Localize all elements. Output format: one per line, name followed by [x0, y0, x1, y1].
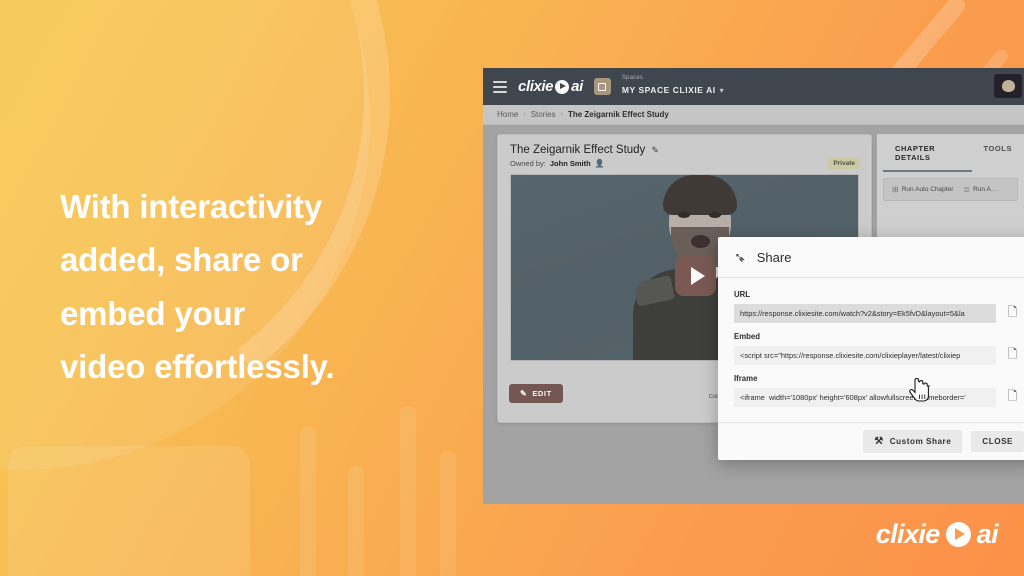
brand-logo: clixie ai	[876, 519, 998, 550]
person-eye-left	[678, 212, 690, 218]
owner-name: John Smith	[550, 159, 591, 168]
share-dialog: ➶ Share URL 🗋 Embed 🗋 Iframe	[718, 237, 1024, 460]
person-icon[interactable]: 👤	[595, 159, 605, 168]
edit-button-label: EDIT	[532, 389, 551, 398]
embed-field-label: Embed	[734, 332, 1022, 341]
space-selector[interactable]: Spaces MY SPACE CLIXIE AI▾	[622, 75, 724, 98]
edit-button[interactable]: ✎ EDIT	[509, 384, 563, 403]
story-owner: Owned by: John Smith 👤	[510, 159, 859, 168]
share-dialog-header: ➶ Share	[718, 237, 1024, 278]
breadcrumb-separator: ›	[561, 111, 563, 118]
copy-embed-icon[interactable]: 🗋	[1003, 345, 1022, 365]
breadcrumb: Home › Stories › The Zeigarnik Effect St…	[483, 105, 1024, 125]
panel-tabs: CHAPTER DETAILS TOOLS	[877, 134, 1024, 172]
url-input[interactable]	[734, 304, 996, 323]
iframe-input[interactable]	[734, 388, 996, 407]
run-auto-chapter-button[interactable]: ⊞ Run Auto Chapter	[892, 185, 953, 194]
run-auto-chapter-label: Run Auto Chapter	[902, 186, 954, 193]
space-eyebrow: Spaces	[622, 75, 724, 81]
custom-share-button[interactable]: ⚒ Custom Share	[863, 430, 962, 453]
promo-headline: With interactivity added, share or embed…	[60, 180, 460, 394]
share-arrow-icon: ➶	[734, 249, 746, 266]
breadcrumb-separator: ›	[523, 111, 525, 118]
url-field-row: 🗋	[734, 303, 1022, 323]
url-field-label: URL	[734, 290, 1022, 299]
promo-slide: With interactivity added, share or embed…	[0, 0, 1024, 576]
story-title-text: The Zeigarnik Effect Study	[510, 144, 645, 156]
app-logo-right: ai	[571, 78, 583, 95]
owner-label: Owned by:	[510, 159, 546, 168]
auto-chapter-icon: ⊞	[892, 185, 899, 194]
decorative-bar	[400, 406, 416, 576]
custom-share-label: Custom Share	[890, 437, 952, 446]
chevron-down-icon[interactable]: ▾	[720, 87, 724, 95]
iframe-field-row: 🗋	[734, 387, 1022, 407]
play-circle-icon	[555, 80, 569, 94]
embed-input[interactable]	[734, 346, 996, 365]
tab-chapter-details[interactable]: CHAPTER DETAILS	[883, 134, 972, 172]
space-name: MY SPACE CLIXIE AI	[622, 86, 716, 95]
breadcrumb-item-current: The Zeigarnik Effect Study	[568, 110, 669, 119]
embed-field-row: 🗋	[734, 345, 1022, 365]
iframe-field-label: Iframe	[734, 374, 1022, 383]
person-mouth	[691, 235, 710, 248]
copy-url-icon[interactable]: 🗋	[1003, 303, 1022, 323]
app-window: clixie ai Spaces MY SPACE CLIXIE AI▾ Hom…	[483, 68, 1024, 504]
decorative-rounded-rect	[8, 446, 250, 576]
person-hair	[663, 175, 737, 215]
hamburger-menu-icon[interactable]	[493, 81, 507, 93]
breadcrumb-item-stories[interactable]: Stories	[531, 110, 556, 119]
run-auto-secondary-button[interactable]: ≣ Run A…	[963, 185, 997, 194]
copy-iframe-icon[interactable]: 🗋	[1003, 387, 1022, 407]
decorative-bar	[348, 466, 364, 576]
app-logo[interactable]: clixie ai	[518, 78, 583, 95]
app-navbar: clixie ai Spaces MY SPACE CLIXIE AI▾	[483, 68, 1024, 105]
page-title: The Zeigarnik Effect Study ✎	[510, 144, 859, 156]
tools-hammer-icon: ⚒	[874, 436, 883, 447]
status-badge: Private	[828, 158, 860, 169]
share-dialog-body: URL 🗋 Embed 🗋 Iframe 🗋	[718, 278, 1024, 422]
decorative-bar	[440, 451, 456, 576]
close-button[interactable]: CLOSE	[971, 431, 1024, 452]
run-auto-secondary-label: Run A…	[973, 186, 997, 193]
app-content: The Zeigarnik Effect Study ✎ Owned by: J…	[483, 125, 1024, 504]
story-header: The Zeigarnik Effect Study ✎ Owned by: J…	[498, 135, 871, 174]
list-icon: ≣	[963, 185, 970, 194]
panel-toolbar: ⊞ Run Auto Chapter ≣ Run A…	[883, 178, 1018, 201]
breadcrumb-item-home[interactable]: Home	[497, 110, 518, 119]
app-logo-left: clixie	[518, 78, 553, 95]
play-icon[interactable]	[675, 255, 716, 296]
person-eye-right	[709, 212, 721, 218]
user-avatar-icon[interactable]	[994, 74, 1022, 98]
pencil-icon: ✎	[520, 389, 527, 398]
decorative-bar	[300, 426, 316, 576]
share-dialog-title: Share	[757, 250, 792, 265]
brand-logo-left: clixie	[876, 519, 940, 550]
pencil-icon[interactable]: ✎	[651, 145, 659, 156]
brand-logo-right: ai	[977, 519, 998, 550]
share-dialog-footer: ⚒ Custom Share CLOSE	[718, 422, 1024, 460]
play-circle-icon	[946, 522, 971, 547]
space-grid-icon	[594, 78, 611, 95]
tab-tools[interactable]: TOOLS	[972, 134, 1024, 172]
